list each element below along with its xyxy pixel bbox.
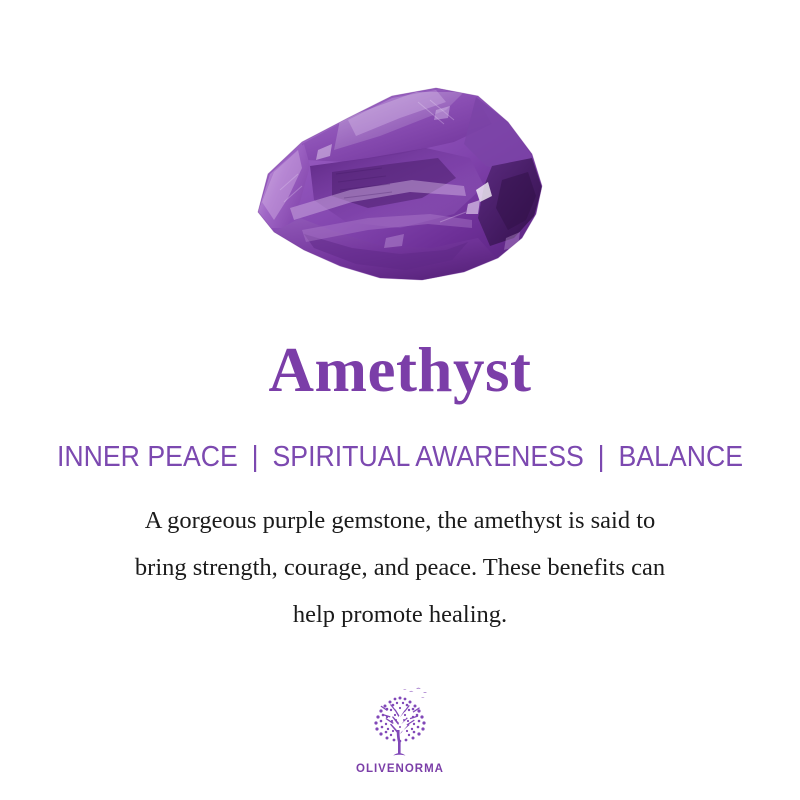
tagline-keyword-3: BALANCE [618,441,743,473]
description-line-2: bring strength, courage, and peace. Thes… [50,544,750,591]
product-description: A gorgeous purple gemstone, the amethyst… [50,497,750,638]
tagline: INNER PEACE | SPIRITUAL AWARENESS | BALA… [32,440,768,474]
description-line-3: help promote healing. [50,591,750,638]
description-line-1: A gorgeous purple gemstone, the amethyst… [50,497,750,544]
tree-of-life-icon [357,684,443,762]
brand-logo: OLIVENORMA [0,684,800,775]
amethyst-crystal-icon [240,62,560,292]
tagline-keyword-1: INNER PEACE [57,441,238,473]
gemstone-image [0,62,800,302]
brand-name: OLIVENORMA [0,763,800,775]
page-title: Amethyst [0,336,800,404]
tagline-keyword-2: SPIRITUAL AWARENESS [272,441,583,473]
tagline-separator-2: | [591,440,611,474]
tagline-separator-1: | [245,440,265,474]
amethyst-product-card: Amethyst INNER PEACE | SPIRITUAL AWARENE… [0,0,800,800]
